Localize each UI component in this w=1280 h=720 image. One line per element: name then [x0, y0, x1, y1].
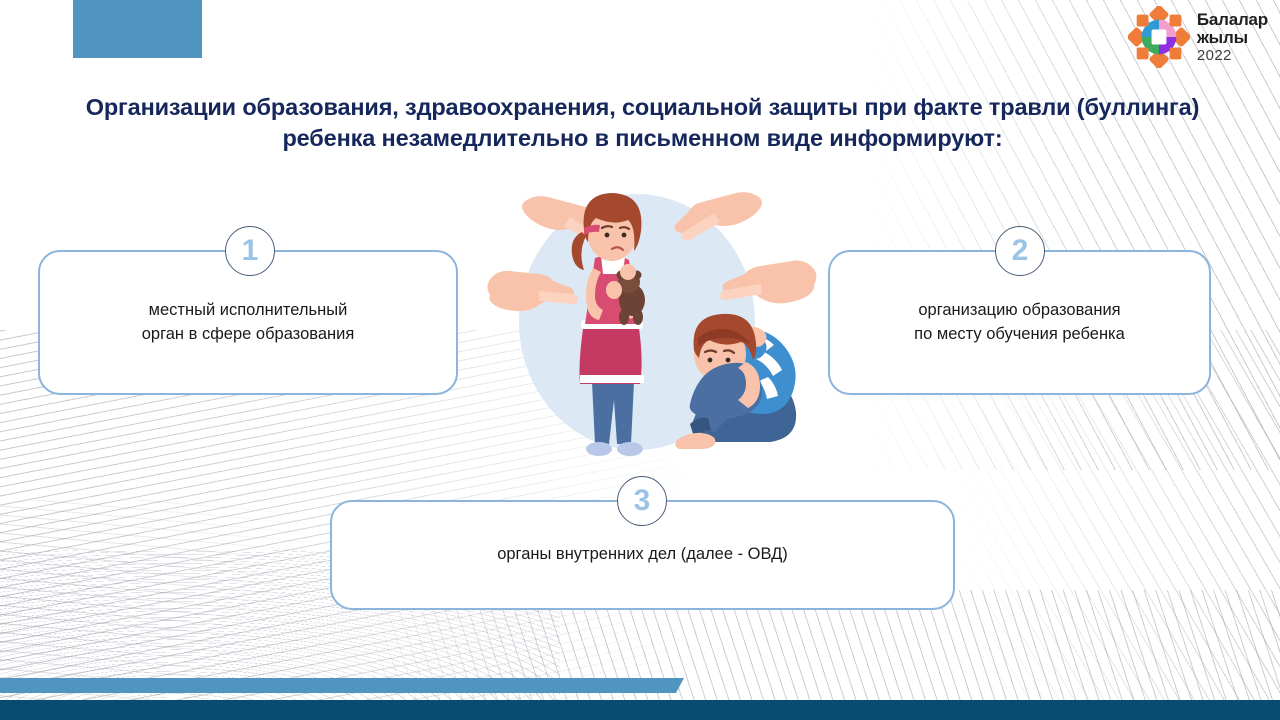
footer-accent-stripe — [0, 678, 684, 693]
info-box-1-text: местный исполнительный орган в сфере обр… — [142, 299, 355, 347]
info-box-2-text: организацию образования по месту обучени… — [914, 299, 1125, 347]
background-diagonal-lines-top-right — [860, 0, 1280, 470]
logo-year: 2022 — [1197, 48, 1268, 63]
slide-title: Организации образования, здравоохранения… — [60, 92, 1225, 155]
info-box-3-number: 3 — [617, 476, 667, 526]
logo: Балалар жылы 2022 — [1128, 6, 1268, 68]
slide-canvas: Балалар жылы 2022 Организации образовани… — [0, 0, 1280, 720]
footer-bar — [0, 700, 1280, 720]
header-accent-block — [73, 0, 202, 58]
logo-line2: жылы — [1197, 29, 1268, 46]
info-box-2-number: 2 — [995, 226, 1045, 276]
bullying-children-illustration — [462, 172, 822, 492]
logo-line1: Балалар — [1197, 11, 1268, 28]
logo-wordmark: Балалар жылы 2022 — [1197, 11, 1268, 63]
info-box-3-text: органы внутренних дел (далее - ОВД) — [497, 543, 788, 567]
info-box-1-number: 1 — [225, 226, 275, 276]
balalar-zhyly-flower-logo-icon — [1128, 6, 1190, 68]
